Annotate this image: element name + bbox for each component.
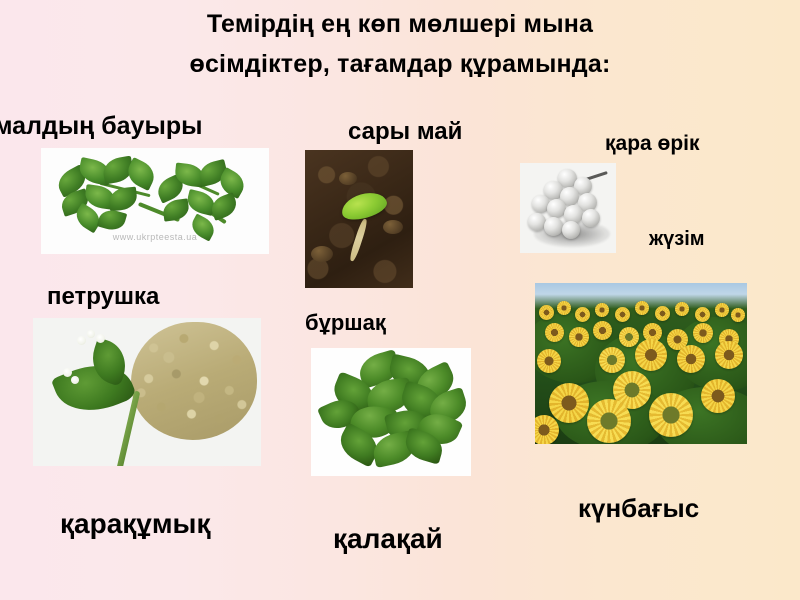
sunflower bbox=[593, 321, 612, 340]
sunflower bbox=[635, 339, 667, 371]
sunflower bbox=[695, 307, 710, 322]
sunflower bbox=[599, 347, 625, 373]
title-line-1: Темірдің ең көп мөлшері мына bbox=[207, 10, 593, 38]
sunflower bbox=[537, 349, 561, 373]
image-sunflower-field bbox=[535, 283, 747, 444]
sunflower bbox=[677, 345, 705, 373]
buckwheat-flower bbox=[87, 330, 95, 338]
soil-clod bbox=[339, 172, 357, 185]
sunflower bbox=[701, 379, 735, 413]
image-parsley: www.ukrpteesta.ua bbox=[41, 148, 269, 254]
parsley-watermark: www.ukrpteesta.ua bbox=[113, 232, 198, 242]
image-prunes bbox=[520, 163, 616, 253]
label-prunes: қара өрік bbox=[605, 132, 700, 156]
sunflower bbox=[539, 305, 554, 320]
sunflower bbox=[595, 303, 609, 317]
label-peas: бұршақ bbox=[305, 310, 386, 336]
buckwheat-groats-pile bbox=[131, 322, 257, 440]
buckwheat-flower bbox=[63, 368, 72, 377]
buckwheat-flower bbox=[96, 334, 105, 343]
sunflower bbox=[693, 323, 713, 343]
label-nettle: қалақай bbox=[333, 523, 443, 555]
label-butter: сары май bbox=[348, 118, 462, 146]
sunflower bbox=[587, 399, 631, 443]
sunflower bbox=[715, 341, 743, 369]
grape-berry bbox=[582, 209, 600, 227]
grape-berry bbox=[562, 221, 580, 239]
image-butter-soil bbox=[305, 150, 413, 288]
page-title: Темірдің ең көп мөлшері мына өсімдіктер,… bbox=[0, 4, 800, 84]
buckwheat-flower bbox=[77, 336, 86, 345]
sunflower bbox=[635, 301, 649, 315]
slide-canvas: Темірдің ең көп мөлшері мына өсімдіктер,… bbox=[0, 0, 800, 600]
sunflower bbox=[569, 327, 589, 347]
soil-clod bbox=[383, 220, 403, 234]
sunflower bbox=[575, 307, 590, 322]
image-nettle bbox=[311, 348, 471, 476]
sunflower bbox=[731, 308, 745, 322]
buckwheat-flower bbox=[71, 376, 79, 384]
label-buckwheat: қарақұмық bbox=[60, 508, 211, 540]
label-liver: малдың бауыры bbox=[0, 112, 202, 141]
sunflower bbox=[549, 383, 589, 423]
sunflower bbox=[649, 393, 693, 437]
sunflower bbox=[545, 323, 564, 342]
sunflower bbox=[715, 303, 729, 317]
sunflower bbox=[619, 327, 639, 347]
grape-berry bbox=[544, 217, 563, 236]
label-sunflower: күнбағыс bbox=[578, 493, 699, 524]
sunflower bbox=[675, 302, 689, 316]
sunflower bbox=[535, 415, 559, 444]
label-grapes: жүзім bbox=[649, 228, 705, 251]
soil-clod bbox=[311, 246, 333, 262]
sprout-stem bbox=[348, 218, 368, 262]
sunflower bbox=[615, 307, 630, 322]
sunflower bbox=[655, 306, 670, 321]
image-buckwheat bbox=[33, 318, 261, 466]
title-line-2: өсімдіктер, тағамдар құрамында: bbox=[0, 44, 800, 84]
label-parsley: петрушка bbox=[47, 283, 159, 311]
sunflower bbox=[557, 301, 571, 315]
